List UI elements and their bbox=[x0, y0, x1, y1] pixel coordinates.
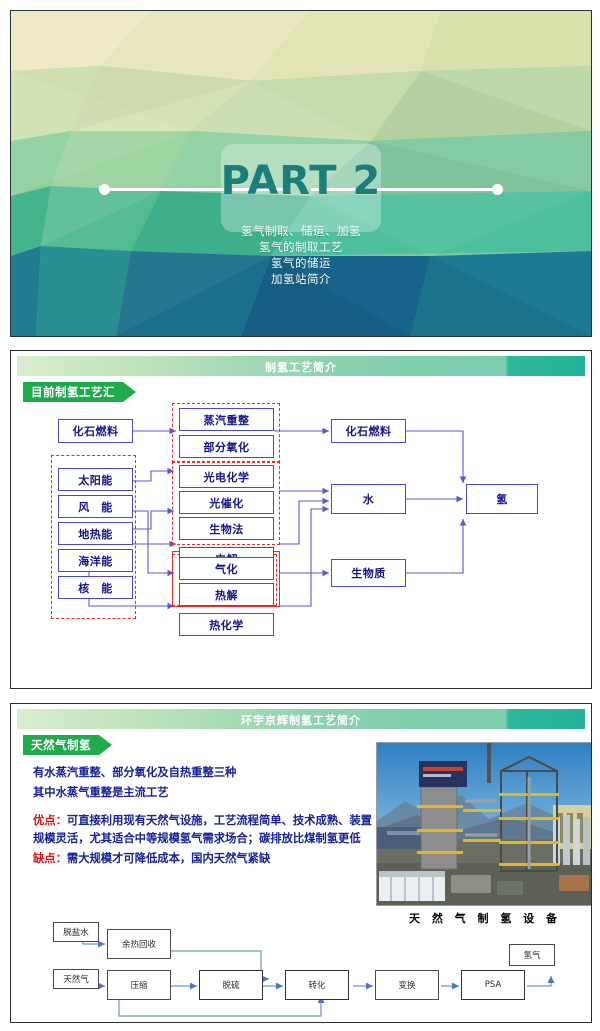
pros-label: 优点： bbox=[33, 814, 67, 827]
slide3-header-band: 环宇京辉制氢工艺简介 bbox=[17, 709, 585, 729]
process-flow-diagram: 化石燃料 太阳能 风 能 地热能 海洋能 核 能 蒸汽重整 部分氧化 光电化学 … bbox=[11, 351, 591, 688]
slide3-body-text: 有水蒸汽重整、部分氧化及自热重整三种 其中水蒸气重整是主流工艺 优点：可直接利用… bbox=[33, 764, 378, 870]
node-geothermal-energy[interactable]: 地热能 bbox=[58, 522, 133, 545]
intro-line-1: 有水蒸汽重整、部分氧化及自热重整三种 bbox=[33, 764, 378, 782]
node-photoelectrochemistry[interactable]: 光电化学 bbox=[179, 465, 274, 488]
flow-step-compression[interactable]: 压缩 bbox=[107, 970, 171, 1000]
node-steam-reforming[interactable]: 蒸汽重整 bbox=[179, 408, 274, 431]
flow-step-desulfurization[interactable]: 脱硫 bbox=[199, 970, 263, 1000]
flow-step-waste-heat-recovery[interactable]: 余热回收 bbox=[107, 929, 171, 959]
flow-step-shift-conversion[interactable]: 变换 bbox=[375, 970, 439, 1000]
node-pyrolysis[interactable]: 热解 bbox=[179, 583, 274, 606]
node-ocean-energy[interactable]: 海洋能 bbox=[58, 549, 133, 572]
cover-subtitle-list: 氢气制取、储运、加氢 氢气的制取工艺 氢气的储运 加氢站简介 bbox=[11, 223, 591, 287]
node-biological-method[interactable]: 生物法 bbox=[179, 517, 274, 540]
cover-subtitle-line: 加氢站简介 bbox=[11, 271, 591, 287]
node-fossil-fuel-feed[interactable]: 化石燃料 bbox=[331, 419, 406, 443]
node-nuclear-energy[interactable]: 核 能 bbox=[58, 576, 133, 599]
flow-output-hydrogen[interactable]: 氢气 bbox=[509, 944, 555, 966]
node-hydrogen-product[interactable]: 氢 bbox=[466, 484, 538, 514]
divider-dot-left bbox=[99, 184, 110, 195]
flow-step-psa[interactable]: PSA bbox=[461, 970, 525, 1000]
pros-text: 可直接利用现有天然气设施，工艺流程简单、技术成熟、装置规模灵活，尤其适合中等规模… bbox=[33, 814, 372, 845]
slide3-section-tag: 天然气制氢 bbox=[23, 735, 112, 755]
node-gasification[interactable]: 气化 bbox=[179, 557, 274, 580]
node-thermochemical[interactable]: 热化学 bbox=[179, 613, 274, 636]
node-wind-energy[interactable]: 风 能 bbox=[58, 495, 133, 518]
slide3-tag-label: 天然气制氢 bbox=[31, 737, 91, 753]
cons-label: 缺点： bbox=[33, 852, 67, 865]
cons-paragraph: 缺点：需大规模才可降低成本，国内天然气紧缺 bbox=[33, 850, 378, 868]
flow-input-demineralized-water[interactable]: 脱盐水 bbox=[53, 922, 99, 942]
intro-line-2: 其中水蒸气重整是主流工艺 bbox=[33, 784, 378, 802]
slide3-header-title: 环宇京辉制氢工艺简介 bbox=[17, 712, 585, 728]
cover-subtitle-line: 氢气的制取工艺 bbox=[11, 239, 591, 255]
plant-photo bbox=[376, 742, 592, 906]
node-solar-energy[interactable]: 太阳能 bbox=[58, 468, 133, 491]
node-biomass-feed[interactable]: 生物质 bbox=[331, 559, 406, 587]
node-fossil-fuel-source[interactable]: 化石燃料 bbox=[58, 419, 133, 443]
pros-paragraph: 优点：可直接利用现有天然气设施，工艺流程简单、技术成熟、装置规模灵活，尤其适合中… bbox=[33, 812, 378, 848]
cover-subtitle-line: 氢气制取、储运、加氢 bbox=[11, 223, 591, 239]
cons-text: 需大规模才可降低成本，国内天然气紧缺 bbox=[67, 852, 270, 865]
slide-hydrogen-process-overview: 制氢工艺简介 目前制氢工艺汇 bbox=[10, 350, 592, 689]
tag-arrow-icon bbox=[99, 735, 112, 755]
flow-step-reforming[interactable]: 转化 bbox=[285, 970, 349, 1000]
slide-natural-gas-hydrogen: 环宇京辉制氢工艺简介 天然气制氢 有水蒸汽重整、部分氧化及自热重整三种 其中水蒸… bbox=[10, 703, 592, 1023]
divider-dot-right bbox=[492, 184, 503, 195]
node-water-feed[interactable]: 水 bbox=[331, 484, 406, 514]
cover-subtitle-line: 氢气的储运 bbox=[11, 255, 591, 271]
slide-deck-page: PART 2 氢气制取、储运、加氢 氢气的制取工艺 氢气的储运 加氢站简介 制氢… bbox=[0, 0, 600, 1031]
node-partial-oxidation[interactable]: 部分氧化 bbox=[179, 435, 274, 458]
slide-cover-part2: PART 2 氢气制取、储运、加氢 氢气的制取工艺 氢气的储运 加氢站简介 bbox=[10, 10, 592, 337]
node-photocatalysis[interactable]: 光催化 bbox=[179, 491, 274, 514]
part-title: PART 2 bbox=[221, 161, 382, 201]
flow-input-natural-gas[interactable]: 天然气 bbox=[53, 969, 99, 989]
photo-caption: 天 然 气 制 氢 设 备 bbox=[376, 910, 592, 926]
